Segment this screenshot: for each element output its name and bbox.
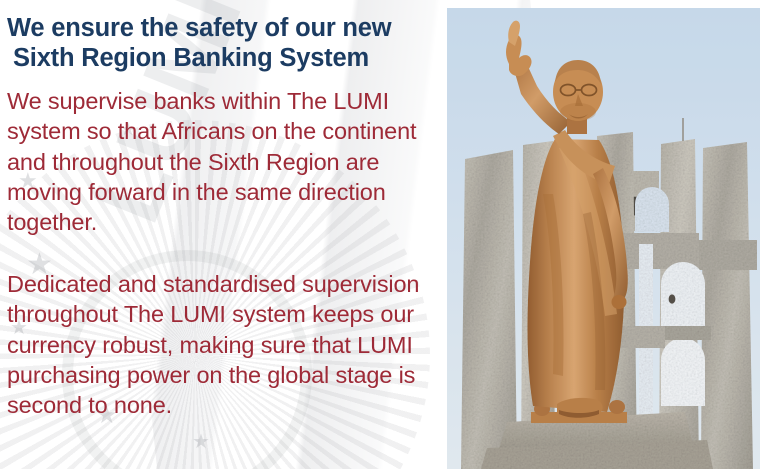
photo-light-wash: [447, 8, 760, 469]
body-paragraph-1: We supervise banks within The LUMI syste…: [7, 86, 439, 238]
body-paragraph-2: Dedicated and standardised supervision t…: [7, 269, 439, 421]
headline-line-1: We ensure the safety of our new: [7, 14, 391, 42]
headline-line-2: Sixth Region Banking System: [7, 43, 439, 73]
text-column: We ensure the safety of our new Sixth Re…: [0, 0, 447, 469]
slide-root: LUMI ★ ★ ★ ★ ★ ★ We ensure the safety of…: [0, 0, 760, 469]
statue-illustration: [447, 8, 760, 469]
page-title: We ensure the safety of our new Sixth Re…: [7, 13, 439, 74]
kwame-nkrumah-statue-photo: [447, 8, 760, 469]
